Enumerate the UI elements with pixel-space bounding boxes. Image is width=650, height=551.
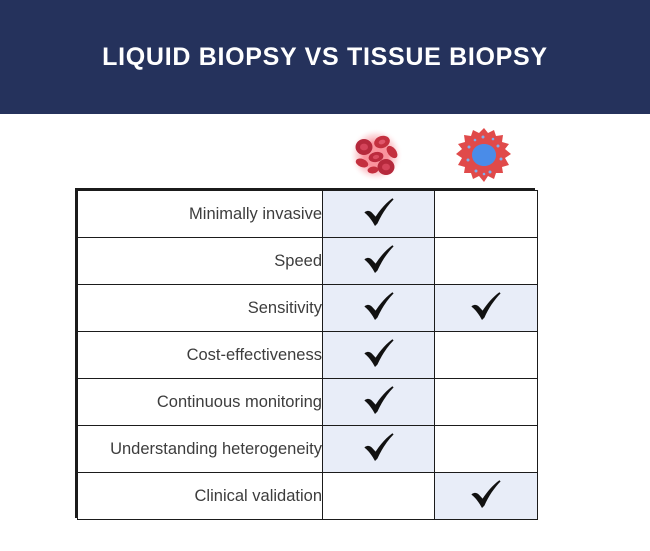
table-row: Sensitivity bbox=[78, 285, 538, 332]
criterion-label: Speed bbox=[78, 238, 323, 285]
table-row: Speed bbox=[78, 238, 538, 285]
check-icon bbox=[362, 432, 396, 466]
tissue-biopsy-cell bbox=[435, 285, 538, 332]
table-row: Clinical validation bbox=[78, 473, 538, 520]
comparison-table-wrapper: Minimally invasive Speed Sensitivity Cos… bbox=[75, 188, 535, 518]
liquid-biopsy-cell bbox=[323, 285, 435, 332]
table-body: Minimally invasive Speed Sensitivity Cos… bbox=[78, 191, 538, 520]
page-header-banner: LIQUID BIOPSY VS TISSUE BIOPSY bbox=[0, 0, 650, 114]
comparison-table: Minimally invasive Speed Sensitivity Cos… bbox=[77, 190, 538, 520]
tissue-biopsy-cell bbox=[435, 379, 538, 426]
check-icon bbox=[362, 385, 396, 419]
liquid-biopsy-cell bbox=[323, 426, 435, 473]
criterion-label: Minimally invasive bbox=[78, 191, 323, 238]
table-row: Cost-effectiveness bbox=[78, 332, 538, 379]
table-row: Minimally invasive bbox=[78, 191, 538, 238]
check-icon bbox=[469, 479, 503, 513]
table-row: Understanding heterogeneity bbox=[78, 426, 538, 473]
table-row: Continuous monitoring bbox=[78, 379, 538, 426]
criterion-label: Sensitivity bbox=[78, 285, 323, 332]
check-icon bbox=[469, 291, 503, 325]
column-icon-row bbox=[0, 122, 650, 188]
tissue-biopsy-cell bbox=[435, 426, 538, 473]
criterion-label: Clinical validation bbox=[78, 473, 323, 520]
check-icon bbox=[362, 197, 396, 231]
check-icon bbox=[362, 244, 396, 278]
tissue-biopsy-cell bbox=[435, 238, 538, 285]
check-icon bbox=[362, 338, 396, 372]
criterion-label: Continuous monitoring bbox=[78, 379, 323, 426]
page-title: LIQUID BIOPSY VS TISSUE BIOPSY bbox=[102, 43, 548, 72]
criterion-label: Cost-effectiveness bbox=[78, 332, 323, 379]
tissue-biopsy-column-header bbox=[432, 122, 535, 188]
tissue-biopsy-cell bbox=[435, 191, 538, 238]
blood-cells-icon bbox=[345, 126, 407, 184]
tumor-cell-icon bbox=[454, 126, 514, 184]
liquid-biopsy-cell bbox=[323, 379, 435, 426]
criterion-label: Understanding heterogeneity bbox=[78, 426, 323, 473]
liquid-biopsy-cell bbox=[323, 238, 435, 285]
liquid-biopsy-cell bbox=[323, 473, 435, 520]
tissue-biopsy-cell bbox=[435, 332, 538, 379]
liquid-biopsy-cell bbox=[323, 332, 435, 379]
tissue-biopsy-cell bbox=[435, 473, 538, 520]
liquid-biopsy-cell bbox=[323, 191, 435, 238]
liquid-biopsy-column-header bbox=[320, 122, 432, 188]
check-icon bbox=[362, 291, 396, 325]
